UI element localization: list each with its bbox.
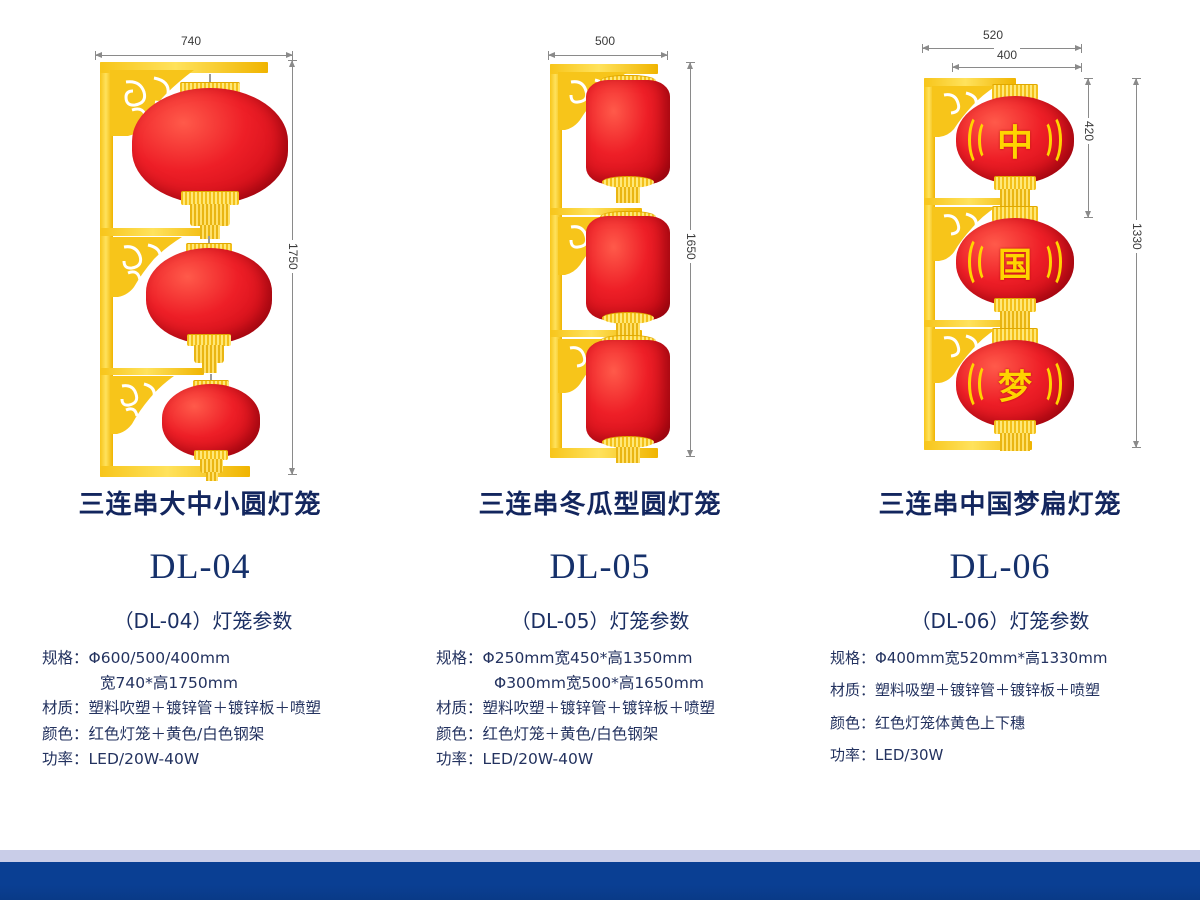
lantern-barrel-3 — [586, 340, 670, 444]
lantern-body — [162, 384, 260, 458]
lantern-body — [146, 248, 272, 344]
frame-bottom-arm — [100, 466, 250, 477]
lantern-small — [162, 384, 260, 458]
frame-vertical-post — [924, 78, 935, 450]
product-subtitle: （DL-04）灯笼参数 — [0, 605, 400, 634]
lantern-tassel — [1000, 433, 1030, 451]
lantern-character: 梦 — [956, 360, 1074, 409]
lantern-flat-zhong: 中 — [956, 96, 1074, 184]
product-model: DL-04 — [0, 545, 400, 587]
frame-bottom-arm — [550, 448, 658, 458]
spec-label: 功率： — [42, 750, 89, 768]
spec-label: 材质： — [436, 699, 483, 717]
dimension-label-height: 1750 — [286, 240, 300, 273]
dimension-label-width: 740 — [178, 34, 204, 48]
lantern-body — [586, 340, 670, 444]
product-subtitle: （DL-05）灯笼参数 — [400, 605, 800, 634]
lantern-tassel — [616, 187, 640, 203]
product-card-dl-04[interactable]: 740 1750 — [0, 0, 400, 840]
lantern-body: 梦 — [956, 340, 1074, 428]
dimension-label-width-inner: 400 — [994, 48, 1020, 62]
spec-value: 塑料吹塑＋镀锌管＋镀锌板＋喷塑 — [89, 699, 322, 717]
spec-row: 颜色：红色灯笼＋黄色/白色钢架 — [42, 722, 400, 747]
dimension-label-height-inner: 420 — [1082, 118, 1096, 144]
spec-row: 颜色：红色灯笼＋黄色/白色钢架 — [436, 722, 800, 747]
spec-row: 规格：Φ600/500/400mm 宽740*高1750mm — [42, 646, 400, 696]
spec-row: 功率：LED/20W-40W — [42, 747, 400, 772]
lantern-tassel — [200, 459, 223, 473]
spec-value: LED/20W-40W — [89, 750, 200, 768]
spec-value: LED/20W-40W — [483, 750, 594, 768]
product-subtitle: （DL-06）灯笼参数 — [800, 605, 1200, 634]
dimension-label-width: 500 — [592, 34, 618, 48]
lantern-character: 国 — [956, 238, 1074, 287]
dimension-label-width-outer: 520 — [980, 28, 1006, 42]
lantern-tassel — [194, 345, 224, 363]
spec-label: 材质： — [830, 681, 875, 699]
spec-label: 颜色： — [42, 725, 89, 743]
spec-row: 规格：Φ400mm宽520mm*高1330mm — [830, 646, 1200, 670]
spec-label: 颜色： — [830, 714, 875, 732]
spec-label: 功率： — [436, 750, 483, 768]
product-card-dl-05[interactable]: 500 1650 — [400, 0, 800, 840]
lantern-tassel — [1000, 189, 1030, 207]
lantern-bottom-cap — [181, 191, 239, 205]
lantern-bottom-cap — [994, 298, 1036, 312]
lantern-flat-guo: 国 — [956, 218, 1074, 306]
footer-bar — [0, 862, 1200, 900]
spec-label: 功率： — [830, 746, 875, 764]
spec-value: Φ250mm宽450*高1350mm — [483, 649, 693, 667]
spec-list: 规格：Φ250mm宽450*高1350mm Φ300mm宽500*高1650mm… — [400, 646, 800, 772]
spec-list: 规格：Φ400mm宽520mm*高1330mm 材质：塑料吸塑＋镀锌管＋镀锌板＋… — [800, 646, 1200, 767]
dimension-line-width — [548, 55, 668, 56]
spec-value: 红色灯笼体黄色上下穗 — [875, 714, 1025, 732]
product-text-dl-06: 三连串中国梦扁灯笼 DL-06 （DL-06）灯笼参数 规格：Φ400mm宽52… — [800, 490, 1200, 767]
lantern-body — [586, 80, 670, 184]
lantern-barrel-1 — [586, 80, 670, 184]
spec-list: 规格：Φ600/500/400mm 宽740*高1750mm 材质：塑料吹塑＋镀… — [0, 646, 400, 772]
product-columns: 740 1750 — [0, 0, 1200, 840]
lantern-bottom-cap — [994, 176, 1036, 190]
lantern-tassel — [190, 204, 230, 226]
lantern-character: 中 — [956, 114, 1074, 166]
spec-label: 材质： — [42, 699, 89, 717]
lantern-body: 中 — [956, 96, 1074, 184]
lantern-body — [586, 216, 670, 320]
product-title: 三连串中国梦扁灯笼 — [800, 490, 1200, 521]
frame-top-arm — [100, 62, 268, 73]
spec-row: 材质：塑料吸塑＋镀锌管＋镀锌板＋喷塑 — [830, 678, 1200, 702]
spec-row: 颜色：红色灯笼体黄色上下穗 — [830, 711, 1200, 735]
lantern-tassel — [616, 447, 640, 463]
spec-row: 材质：塑料吹塑＋镀锌管＋镀锌板＋喷塑 — [42, 696, 400, 721]
lantern-flat-meng: 梦 — [956, 340, 1074, 428]
product-model: DL-06 — [800, 545, 1200, 587]
dimension-label-height: 1650 — [684, 230, 698, 263]
lantern-tassel-tip — [200, 225, 220, 239]
spec-value: 红色灯笼＋黄色/白色钢架 — [483, 725, 659, 743]
lantern-tassel-tip — [206, 472, 218, 481]
product-text-dl-04: 三连串大中小圆灯笼 DL-04 （DL-04）灯笼参数 规格：Φ600/500/… — [0, 490, 400, 772]
spec-value: 塑料吹塑＋镀锌管＋镀锌板＋喷塑 — [483, 699, 716, 717]
lantern-medium — [146, 248, 272, 344]
spec-value: 塑料吸塑＋镀锌管＋镀锌板＋喷塑 — [875, 681, 1100, 699]
lantern-bottom-cap — [994, 420, 1036, 434]
lantern-body: 国 — [956, 218, 1074, 306]
product-illustration-dl-04: 740 1750 — [0, 0, 400, 490]
dimension-label-height-outer: 1330 — [1130, 220, 1144, 253]
spec-value: 红色灯笼＋黄色/白色钢架 — [89, 725, 265, 743]
frame-top-arm — [550, 64, 658, 74]
dimension-line-width — [95, 55, 293, 56]
spec-label: 规格： — [436, 649, 483, 667]
frame-mid-arm-lower — [100, 368, 204, 375]
spec-value: Φ600/500/400mm — [89, 649, 231, 667]
frame-vertical-post — [550, 64, 562, 457]
spec-row: 功率：LED/20W-40W — [436, 747, 800, 772]
spec-continuation: Φ300mm宽500*高1650mm — [436, 671, 800, 696]
spec-label: 规格： — [830, 649, 875, 667]
product-card-dl-06[interactable]: 520 400 420 1330 — [800, 0, 1200, 840]
spec-continuation: 宽740*高1750mm — [42, 671, 400, 696]
dimension-line-height-inner — [1088, 78, 1089, 218]
footer-accent-strip — [0, 850, 1200, 862]
spec-row: 材质：塑料吹塑＋镀锌管＋镀锌板＋喷塑 — [436, 696, 800, 721]
lantern-tassel-tip — [202, 362, 217, 373]
catalog-page: 740 1750 — [0, 0, 1200, 900]
product-illustration-dl-05: 500 1650 — [400, 0, 800, 490]
lantern-barrel-2 — [586, 216, 670, 320]
lantern-large — [132, 88, 288, 204]
product-title: 三连串大中小圆灯笼 — [0, 490, 400, 521]
spec-value: LED/30W — [875, 746, 943, 764]
lantern-body — [132, 88, 288, 204]
spec-label: 颜色： — [436, 725, 483, 743]
spec-row: 功率：LED/30W — [830, 743, 1200, 767]
product-text-dl-05: 三连串冬瓜型圆灯笼 DL-05 （DL-05）灯笼参数 规格：Φ250mm宽45… — [400, 490, 800, 772]
spec-row: 规格：Φ250mm宽450*高1350mm Φ300mm宽500*高1650mm — [436, 646, 800, 696]
frame-vertical-post — [100, 62, 113, 477]
dimension-line-height-outer — [1136, 78, 1137, 448]
product-title: 三连串冬瓜型圆灯笼 — [400, 490, 800, 521]
dimension-line-width-inner — [952, 67, 1082, 68]
lantern-tassel — [1000, 311, 1030, 329]
spec-label: 规格： — [42, 649, 89, 667]
product-illustration-dl-06: 520 400 420 1330 — [800, 0, 1200, 490]
product-model: DL-05 — [400, 545, 800, 587]
spec-value: Φ400mm宽520mm*高1330mm — [875, 649, 1107, 667]
